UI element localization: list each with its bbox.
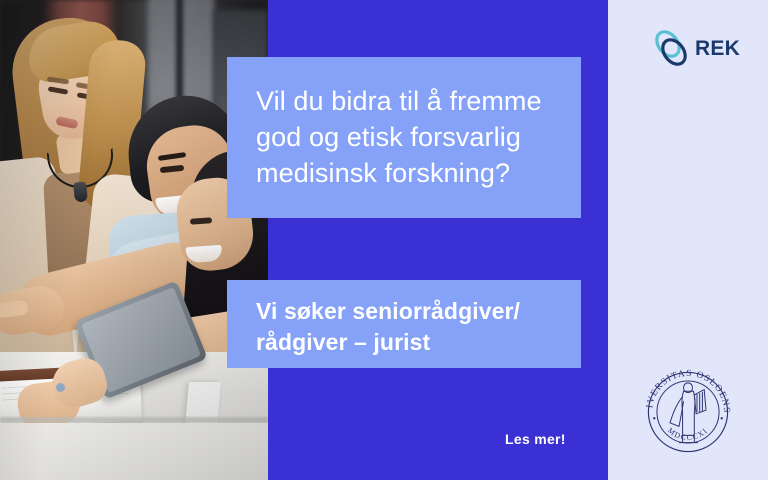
rek-wordmark: REK bbox=[695, 38, 740, 59]
job-title-callout: Vi søker seniorrådgiver/ rådgiver – juri… bbox=[227, 280, 581, 368]
read-more-link[interactable]: Les mer! bbox=[505, 431, 566, 447]
headline-line-1: Vil du bidra til å fremme bbox=[256, 83, 581, 119]
recruitment-banner: Vil du bidra til å fremme god og etisk f… bbox=[0, 0, 768, 480]
uio-seal-icon: UNIVERSITAS OSLOENSIS MDCCCXI bbox=[643, 367, 733, 457]
svg-text:MDCCCXI: MDCCCXI bbox=[666, 426, 710, 442]
rek-logo: REK bbox=[650, 27, 736, 69]
headline-line-3: medisinsk forskning? bbox=[256, 155, 581, 191]
job-title-line-2: rådgiver – jurist bbox=[256, 327, 581, 358]
uio-seal-outer-text: UNIVERSITAS OSLOENSIS bbox=[643, 367, 731, 414]
uio-seal-year-text: MDCCCXI bbox=[666, 426, 710, 442]
svg-text:UNIVERSITAS OSLOENSIS: UNIVERSITAS OSLOENSIS bbox=[643, 367, 731, 414]
headline-callout: Vil du bidra til å fremme god og etisk f… bbox=[227, 57, 581, 218]
job-title-line-1: Vi søker seniorrådgiver/ bbox=[256, 296, 581, 327]
headline-line-2: god og etisk forsvarlig bbox=[256, 119, 581, 155]
rek-rings-icon bbox=[650, 27, 692, 69]
